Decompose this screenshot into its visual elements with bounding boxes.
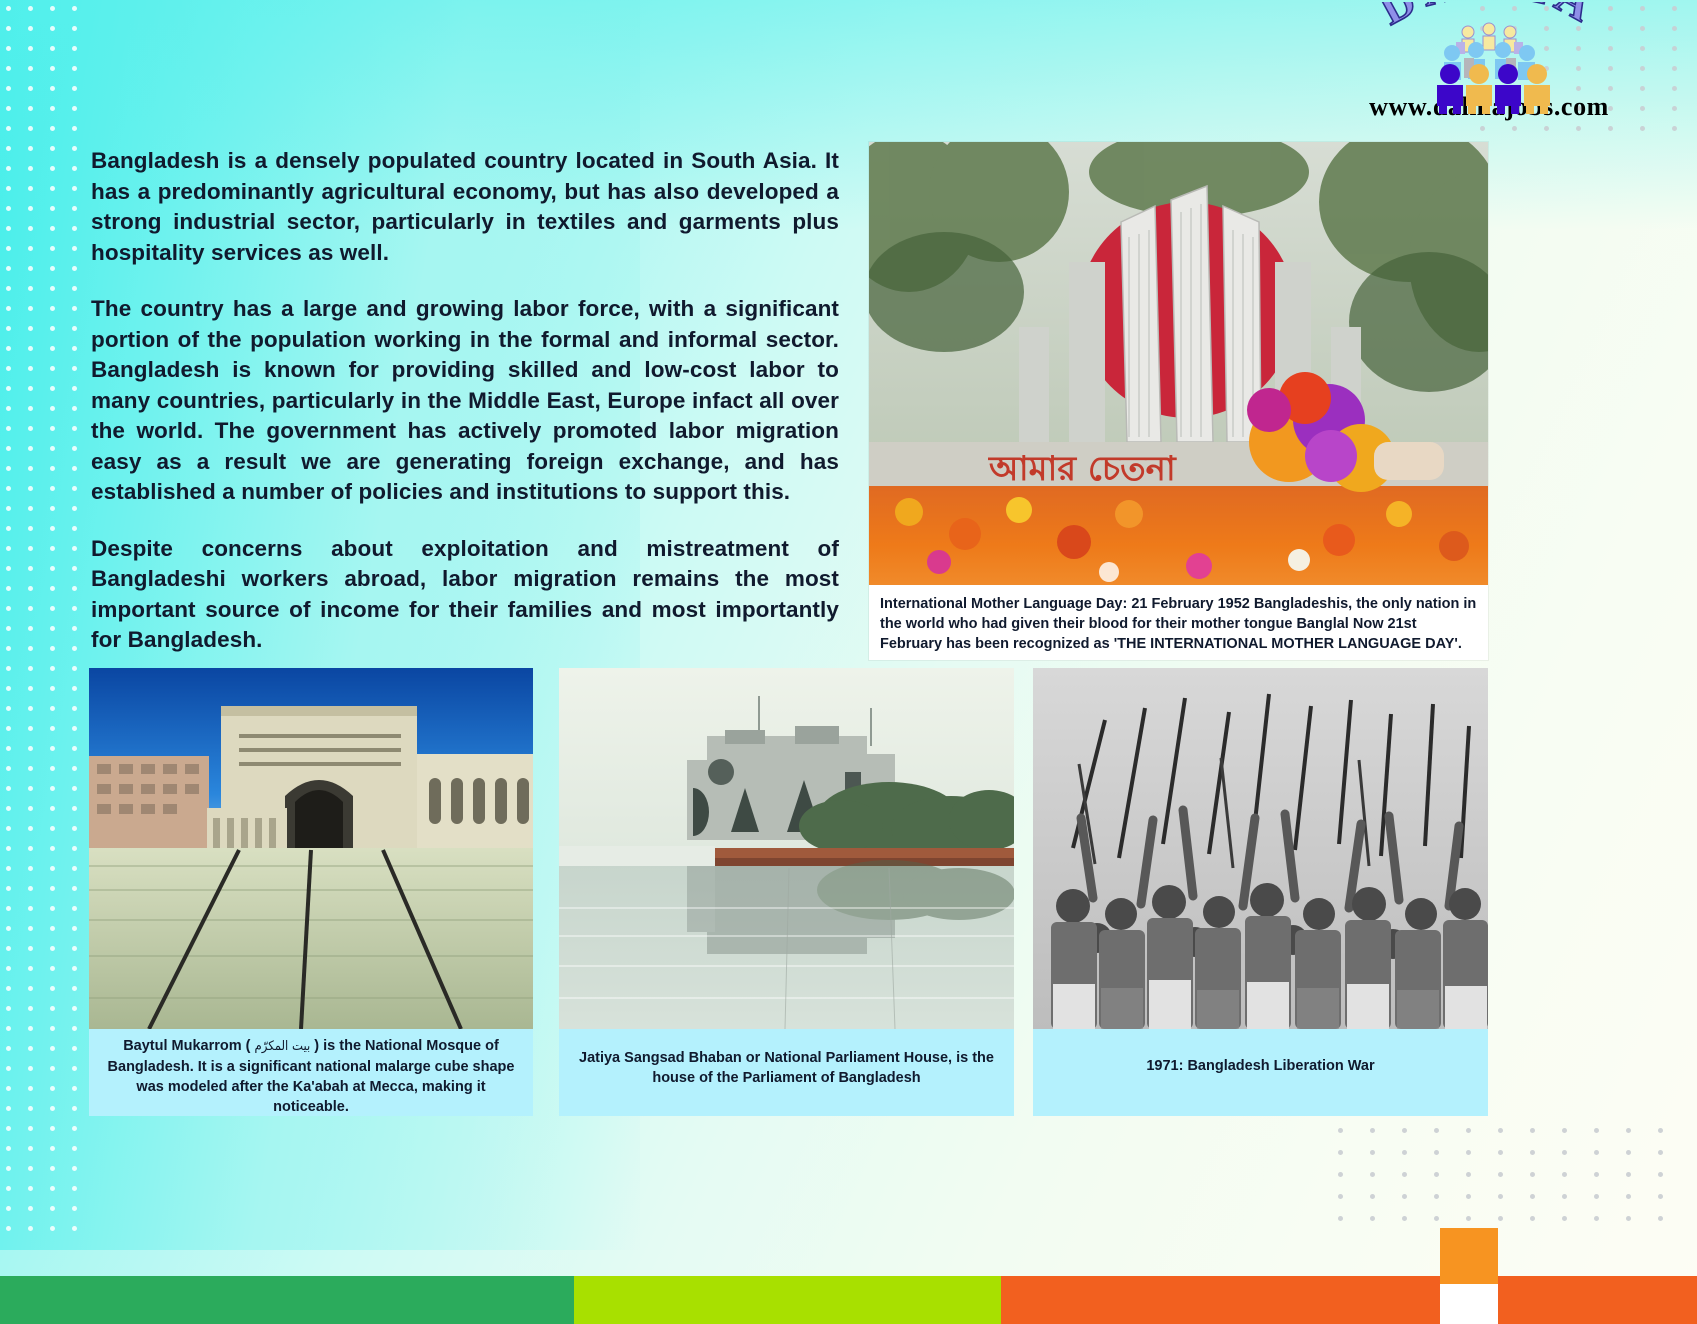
jatiya-sangsad-photo — [559, 668, 1014, 1029]
shaheed-minar-photo: আমার চেতনা — [869, 142, 1488, 585]
liberation-war-photo — [1033, 668, 1488, 1029]
decorative-dots-bottom — [1330, 1120, 1697, 1250]
people-group-icon — [1324, 22, 1654, 82]
baytul-mukarrom-photo — [89, 668, 533, 1029]
figure-jatiya-sangsad: Jatiya Sangsad Bhaban or National Parlia… — [559, 668, 1014, 1116]
caption-box-jatiya-sangsad: Jatiya Sangsad Bhaban or National Parlia… — [559, 1029, 1014, 1116]
footer-bar-orange — [1001, 1276, 1697, 1324]
decorative-dots-left — [0, 0, 90, 1260]
article-text: Bangladesh is a densely populated countr… — [91, 146, 839, 656]
figure-caption-baytul-mukarrom: Baytul Mukarrom ( بيت المكرّم ) is the N… — [103, 1036, 519, 1117]
figure-baytul-mukarrom: Baytul Mukarrom ( بيت المكرّم ) is the N… — [89, 668, 533, 1116]
caption-box-baytul-mukarrom: Baytul Mukarrom ( بيت المكرّم ) is the N… — [89, 1029, 533, 1116]
figure-caption-liberation-war: 1971: Bangladesh Liberation War — [1047, 1056, 1474, 1076]
footer-bar-green — [0, 1276, 574, 1324]
caption-part-a: Baytul Mukarrom ( — [123, 1038, 254, 1054]
paragraph-1: Bangladesh is a densely populated countr… — [91, 146, 839, 268]
caption-box-liberation-war: 1971: Bangladesh Liberation War — [1033, 1029, 1488, 1116]
brand-logo[interactable]: DALMA — [1324, 6, 1654, 146]
figure-caption-jatiya-sangsad: Jatiya Sangsad Bhaban or National Parlia… — [573, 1048, 1000, 1088]
figure-liberation-war: 1971: Bangladesh Liberation War — [1033, 668, 1488, 1116]
figure-caption-mother-language-day: International Mother Language Day: 21 Fe… — [869, 585, 1488, 654]
paragraph-2: The country has a large and growing labo… — [91, 294, 839, 508]
caption-part-rest: Bangladesh. It is a significant national… — [108, 1059, 515, 1115]
figure-mother-language-day: আমার চেতনা — [869, 142, 1488, 660]
footer-accent-orange — [1440, 1228, 1498, 1284]
caption-part-b: ) is the National Mosque of — [310, 1038, 499, 1054]
poster-page: DALMA — [0, 0, 1697, 1324]
footer-accent-white — [1440, 1284, 1498, 1324]
paragraph-3: Despite concerns about exploitation and … — [91, 534, 839, 656]
caption-arabic-name: بيت المكرّم — [255, 1039, 311, 1054]
footer-bar-lime — [574, 1276, 1001, 1324]
svg-text:আমার চেতনা: আমার চেতনা — [988, 449, 1177, 489]
